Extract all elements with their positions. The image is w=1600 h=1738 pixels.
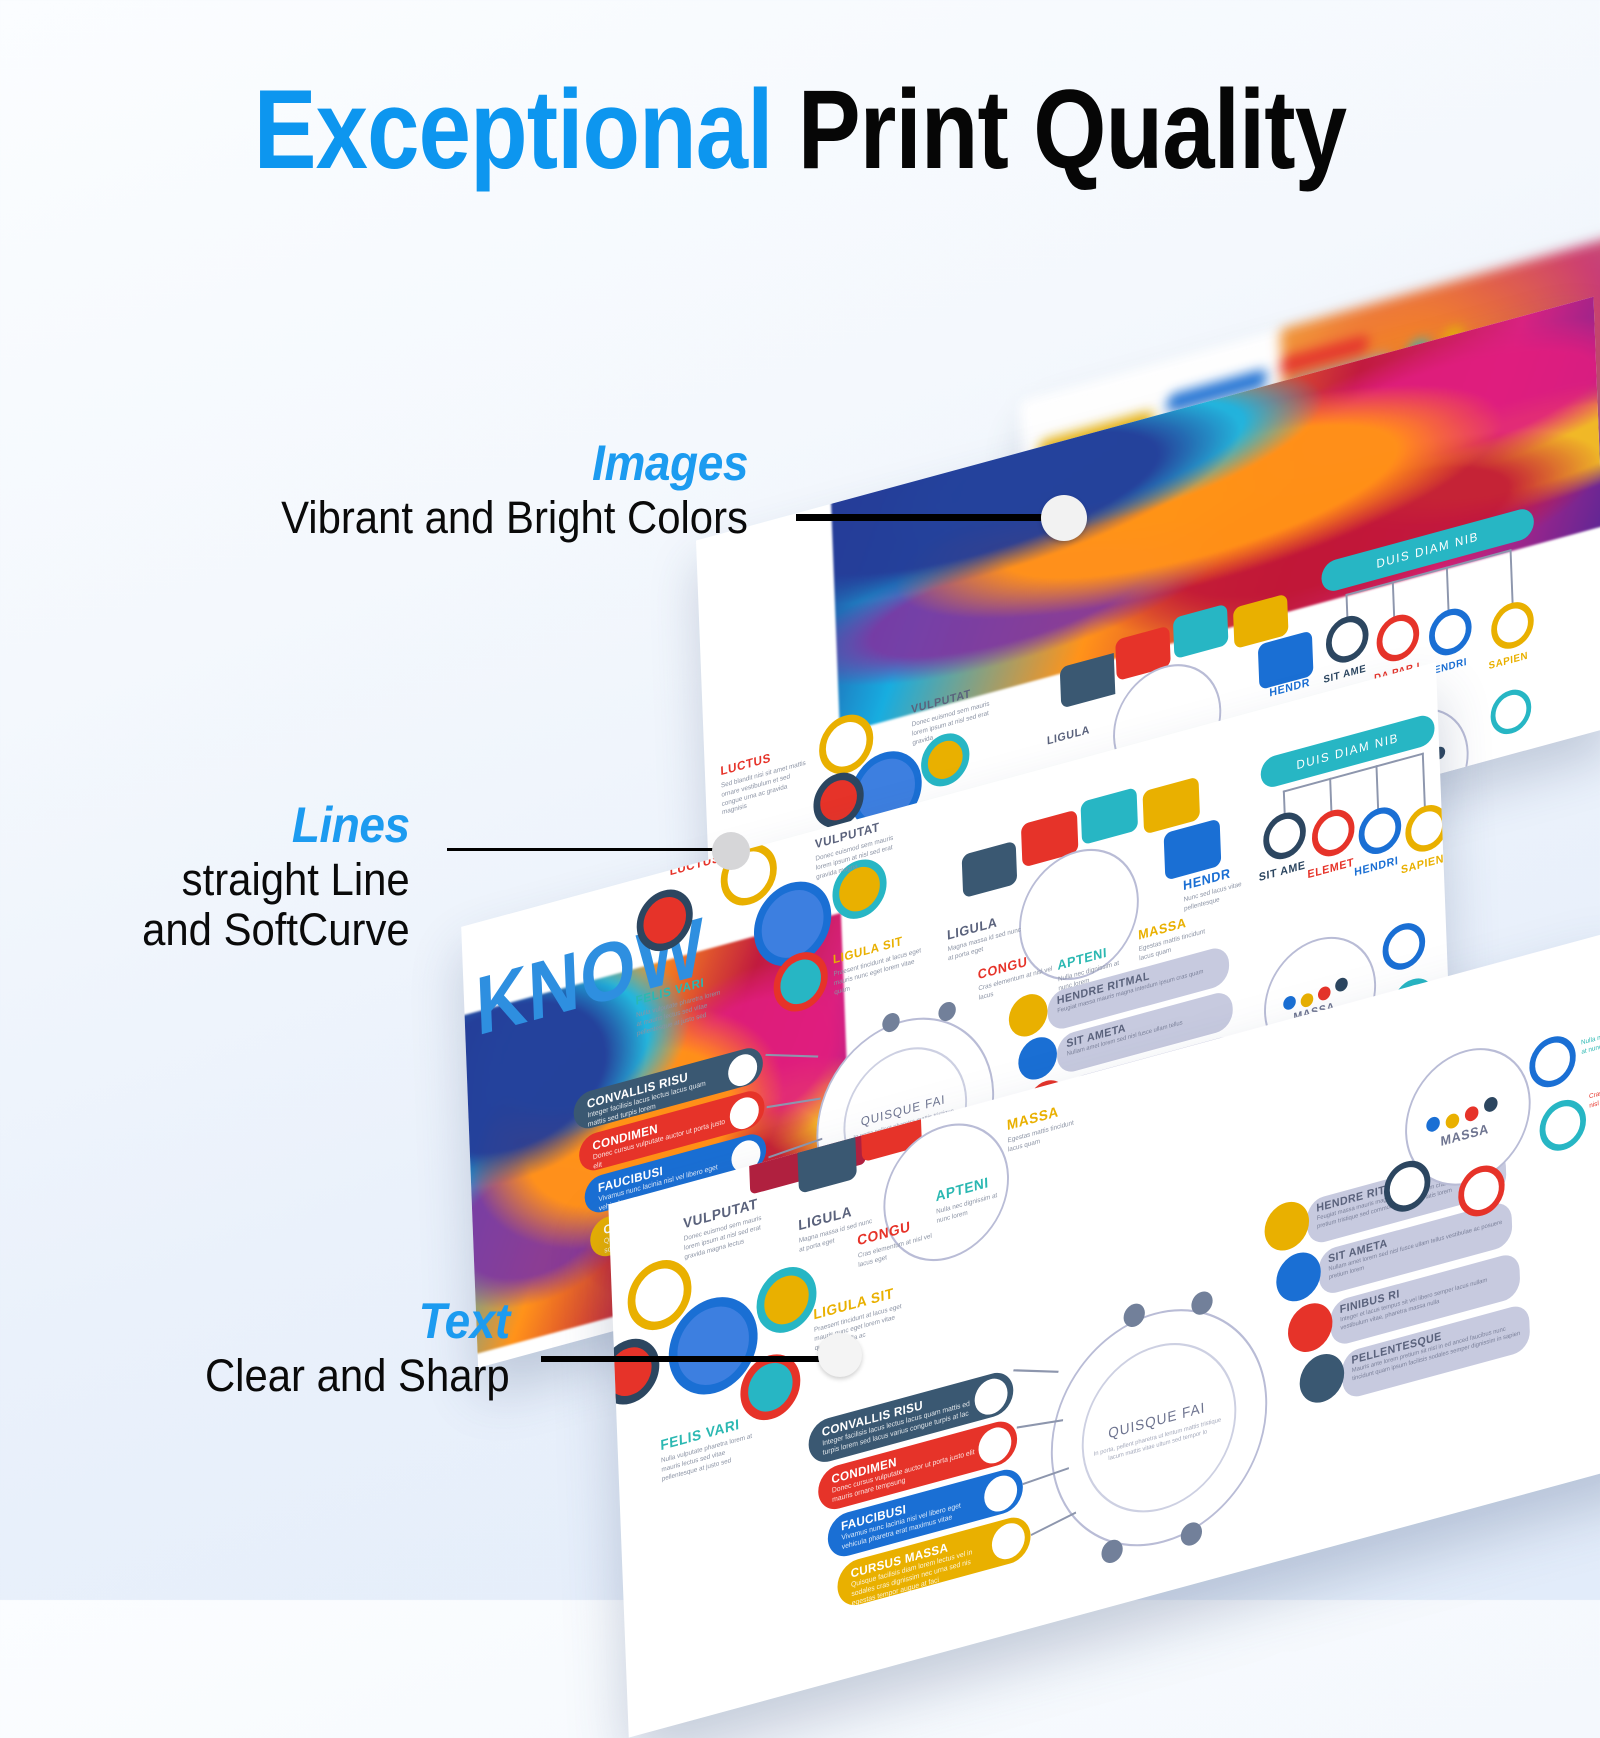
callout-desc-lines-1: straight Line xyxy=(142,855,410,905)
leader-line-images xyxy=(796,514,1048,521)
star-icon xyxy=(1008,990,1048,1042)
endpoint-dot-text xyxy=(818,1333,862,1377)
clock-icon xyxy=(984,1472,1018,1516)
share-icon xyxy=(1287,1298,1333,1357)
leader-line-text xyxy=(541,1356,842,1362)
banner-duis-diam-nib-mid: DUIS DIAM NIB xyxy=(1260,712,1435,790)
callout-images: Images Vibrant and Bright Colors xyxy=(246,438,748,543)
callout-lines: Lines straight Line and SoftCurve xyxy=(122,800,410,956)
endpoint-dot-images xyxy=(1041,495,1087,541)
callout-kicker-lines: Lines xyxy=(145,800,410,851)
pencil-icon xyxy=(991,1519,1025,1563)
label-elemet-mid: ELEMET xyxy=(1307,856,1354,881)
label-sapien-upper: SAPIEN xyxy=(1488,650,1528,672)
callout-desc-text: Clear and Sharp xyxy=(205,1351,510,1401)
label-sitame-mid: SIT AME xyxy=(1259,859,1306,884)
poster-canvas: Exceptional Print Quality LUCTUS xyxy=(0,0,1600,1600)
envelope-icon xyxy=(1299,1349,1345,1408)
label-ligula-upper: LIGULA xyxy=(1047,724,1090,748)
map-icon xyxy=(1018,1033,1058,1085)
title-main-words: Print Quality xyxy=(798,67,1346,192)
thumbs-up-icon xyxy=(974,1375,1008,1419)
callout-kicker-text: Text xyxy=(209,1296,510,1347)
endpoint-dot-lines xyxy=(712,832,750,870)
label-sapien-mid: SAPIEN xyxy=(1401,853,1444,877)
map-icon xyxy=(1275,1247,1321,1306)
callout-text: Text Clear and Sharp xyxy=(182,1296,510,1401)
callout-kicker-images: Images xyxy=(286,438,748,489)
leader-line-lines xyxy=(447,848,727,851)
title-accent-word: Exceptional xyxy=(254,67,773,192)
callout-desc-lines-2: and SoftCurve xyxy=(142,905,410,955)
star-icon xyxy=(1264,1197,1310,1256)
page-title: Exceptional Print Quality xyxy=(128,74,1472,186)
label-hendri-mid: HENDRI xyxy=(1354,855,1399,879)
callout-desc-images: Vibrant and Bright Colors xyxy=(281,493,748,543)
location-pin-icon xyxy=(978,1423,1012,1467)
